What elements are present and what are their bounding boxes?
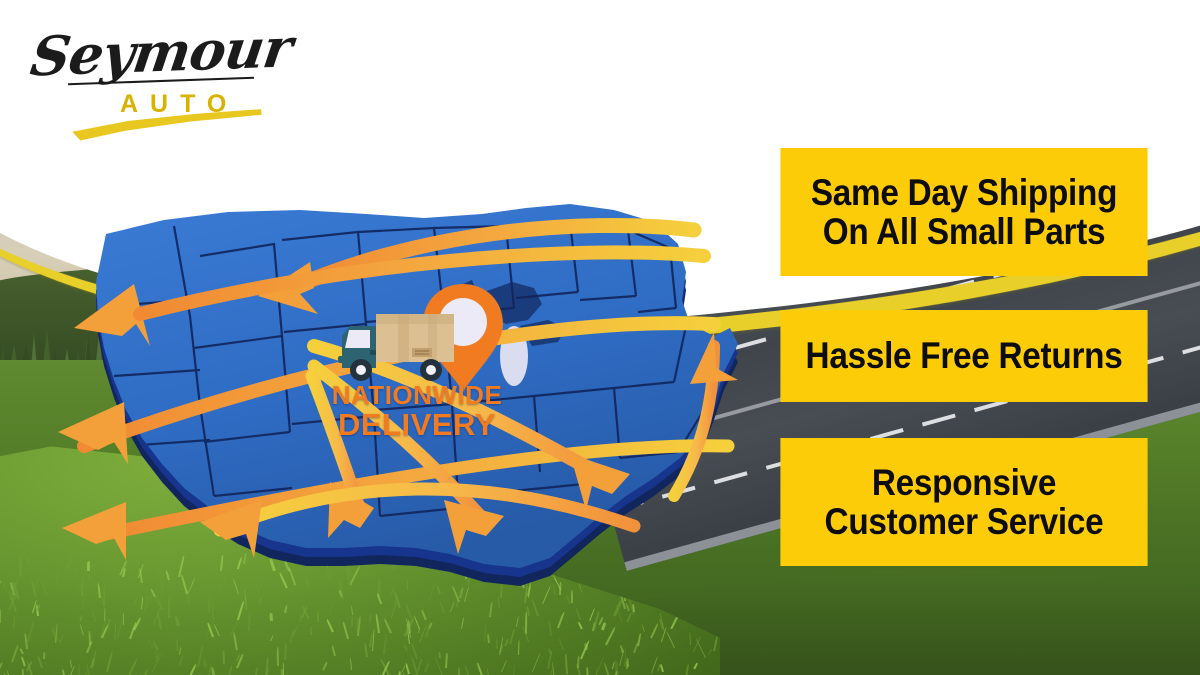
callout-responsive-customer-service[interactable]: Responsive Customer Service <box>780 438 1147 566</box>
callout-same-day-shipping[interactable]: Same Day Shipping On All Small Parts <box>780 148 1147 276</box>
callout-2-line-1: Hassle Free Returns <box>806 335 1123 376</box>
nationwide-delivery-badge: NATIONWIDE DELIVERY <box>322 282 512 452</box>
badge-caption: NATIONWIDE DELIVERY <box>322 382 512 441</box>
promotional-banner: Seymour AUTO <box>0 0 1200 675</box>
brand-logo[interactable]: Seymour AUTO <box>28 18 328 130</box>
delivery-truck-icon <box>336 306 462 386</box>
callout-1-line-1: Same Day Shipping <box>811 172 1117 213</box>
callout-3-line-2: Customer Service <box>825 501 1104 542</box>
brand-name-script: Seymour <box>27 16 296 89</box>
callout-3-line-1: Responsive <box>872 462 1056 503</box>
badge-line-1: NATIONWIDE <box>322 382 512 409</box>
callout-1-line-2: On All Small Parts <box>823 211 1106 252</box>
badge-line-2: DELIVERY <box>322 409 512 441</box>
brand-subtitle: AUTO <box>120 90 238 119</box>
callout-hassle-free-returns[interactable]: Hassle Free Returns <box>780 310 1147 402</box>
